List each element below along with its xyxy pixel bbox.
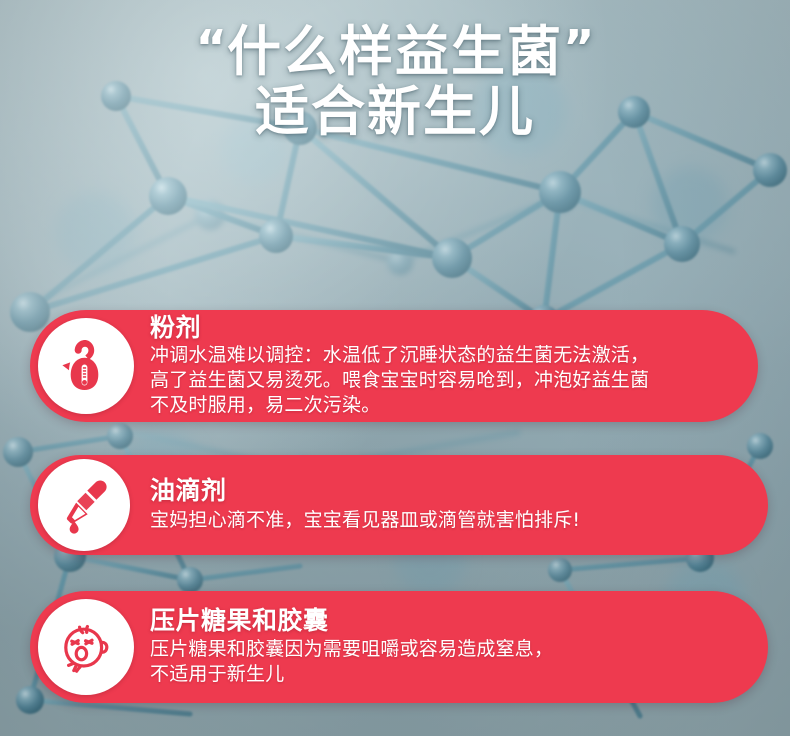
choking-baby-face-icon — [38, 599, 134, 695]
card-powder[interactable]: 粉剂 冲调水温难以调控：水温低了沉睡状态的益生菌无法激活， 高了益生菌又易烫死。… — [30, 310, 758, 422]
card-powder-body-line-1: 冲调水温难以调控：水温低了沉睡状态的益生菌无法激活， — [150, 343, 649, 368]
poster-root: “什么样益生菌” 适合新生儿 — [0, 0, 790, 736]
card-tablets-capsules-heading: 压片糖果和胶囊 — [150, 607, 553, 636]
card-oil-drops-text: 油滴剂 宝妈担心滴不准，宝宝看见器皿或滴管就害怕排斥! — [150, 477, 606, 533]
card-powder-body-line-2: 高了益生菌又易烫死。喂食宝宝时容易呛到，冲泡好益生菌 — [150, 368, 649, 393]
card-oil-drops[interactable]: 油滴剂 宝妈担心滴不准，宝宝看见器皿或滴管就害怕排斥! — [30, 455, 768, 555]
dropper-pipette-icon — [38, 459, 130, 551]
card-tablets-capsules-body-line-1: 压片糖果和胶囊因为需要咀嚼或容易造成窒息， — [150, 637, 553, 662]
issue-card-list: 粉剂 冲调水温难以调控：水温低了沉睡状态的益生菌无法激活， 高了益生菌又易烫死。… — [0, 0, 790, 736]
card-oil-drops-body-line-1: 宝妈担心滴不准，宝宝看见器皿或滴管就害怕排斥! — [150, 508, 580, 533]
card-tablets-capsules-body-line-2: 不适用于新生儿 — [150, 662, 553, 687]
card-tablets-capsules-text: 压片糖果和胶囊 压片糖果和胶囊因为需要咀嚼或容易造成窒息， 不适用于新生儿 — [150, 607, 579, 687]
card-powder-heading: 粉剂 — [150, 314, 649, 343]
card-powder-body-line-3: 不及时服用，易二次污染。 — [150, 393, 649, 418]
card-tablets-capsules[interactable]: 压片糖果和胶囊 压片糖果和胶囊因为需要咀嚼或容易造成窒息， 不适用于新生儿 — [30, 591, 768, 703]
card-oil-drops-heading: 油滴剂 — [150, 477, 580, 506]
kettle-thermometer-icon — [38, 318, 134, 414]
card-powder-text: 粉剂 冲调水温难以调控：水温低了沉睡状态的益生菌无法激活， 高了益生菌又易烫死。… — [150, 314, 675, 419]
